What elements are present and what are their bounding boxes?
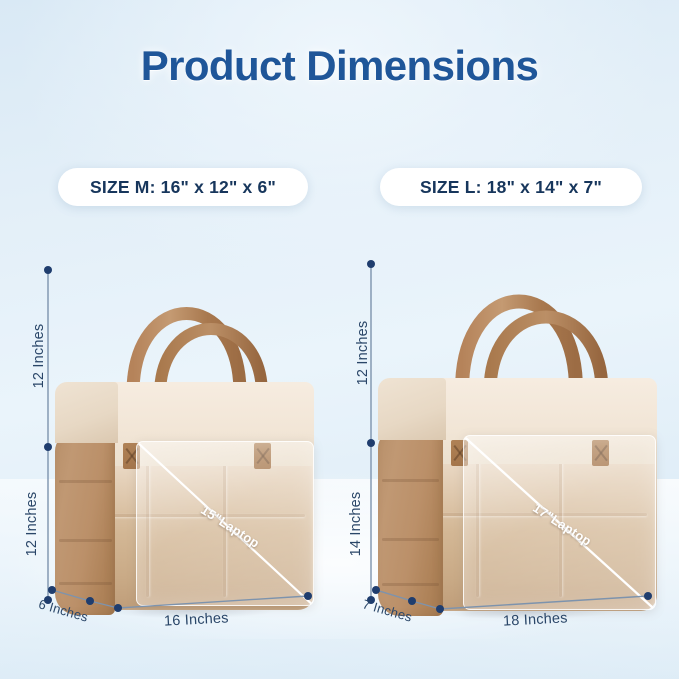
measure-label-l-handle-height: 12 Inches bbox=[355, 308, 371, 398]
measure-label-m-body-height: 12 Inches bbox=[24, 479, 40, 569]
laptop-label-l: 17"Laptop bbox=[530, 500, 594, 549]
measure-label-l-width: 18 Inches bbox=[503, 610, 568, 629]
bag-gusset-top-m bbox=[55, 382, 118, 443]
laptop-overlay-l: 17"Laptop bbox=[463, 435, 657, 611]
product-illustration-l: 17"Laptop bbox=[378, 238, 660, 616]
bag-gusset-l bbox=[378, 430, 443, 616]
measure-label-m-width: 16 Inches bbox=[164, 610, 229, 629]
page-title: Product Dimensions bbox=[0, 42, 679, 90]
bag-gusset-m bbox=[55, 433, 115, 615]
size-badge-m: SIZE M: 16" x 12" x 6" bbox=[58, 168, 308, 206]
size-badge-l: SIZE L: 18" x 14" x 7" bbox=[380, 168, 642, 206]
infographic-canvas: Product Dimensions SIZE M: 16" x 12" x 6… bbox=[0, 0, 679, 679]
measure-label-m-handle-height: 12 Inches bbox=[31, 311, 47, 401]
product-illustration-m: 15"Laptop bbox=[55, 245, 317, 615]
laptop-label-m: 15"Laptop bbox=[198, 502, 262, 551]
bag-gusset-top-l bbox=[378, 378, 446, 440]
laptop-overlay-m: 15"Laptop bbox=[136, 441, 314, 606]
measure-label-l-body-height: 14 Inches bbox=[348, 479, 364, 569]
